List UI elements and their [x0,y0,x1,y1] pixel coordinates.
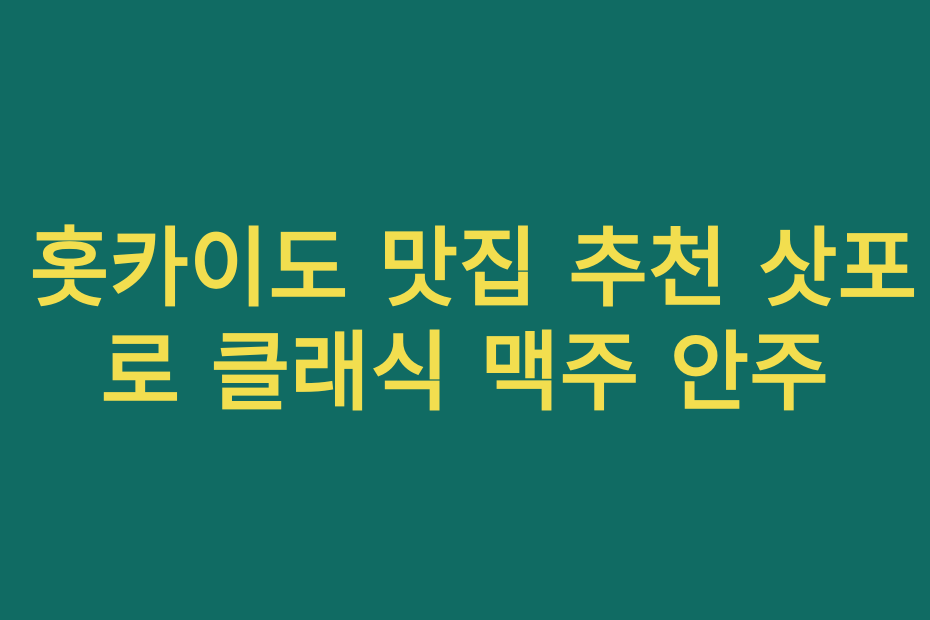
title-line-2: 로 클래식 맥주 안주 [30,321,900,425]
title-line-1: 홋카이도 맛집 추천 삿포 [30,217,900,321]
title-block: 홋카이도 맛집 추천 삿포 로 클래식 맥주 안주 [0,217,930,425]
thumbnail-canvas: 홋카이도 맛집 추천 삿포 로 클래식 맥주 안주 [0,0,930,620]
